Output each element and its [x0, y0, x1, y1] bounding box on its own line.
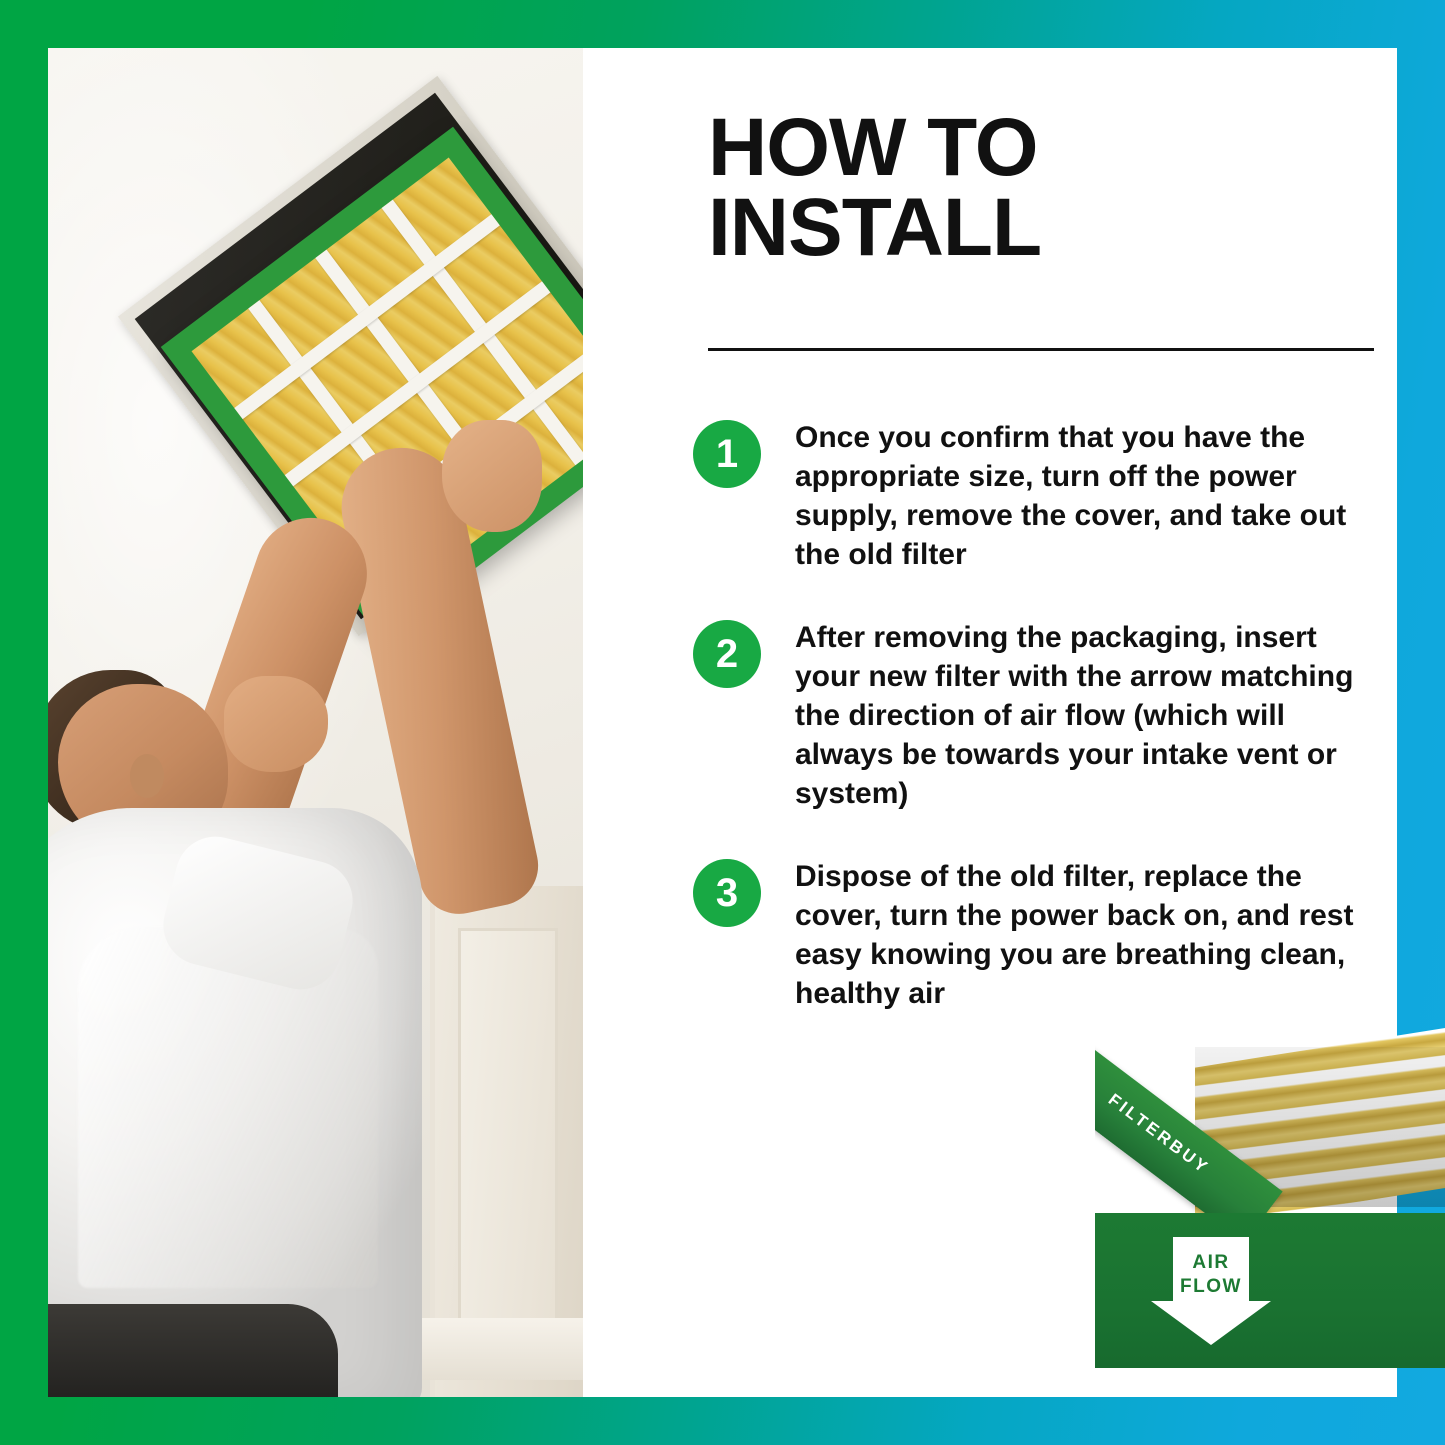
list-item: 1 Once you confirm that you have the app…	[693, 418, 1393, 574]
page-title-line-1: HOW TO	[708, 108, 1348, 188]
list-item: 3 Dispose of the old filter, replace the…	[693, 857, 1393, 1013]
photo-person-right-hand	[442, 420, 542, 532]
page-title: HOW TO INSTALL	[708, 108, 1348, 269]
photo-door-inset	[458, 928, 558, 1358]
photo-person-shirt-fold	[78, 928, 378, 1288]
step-text-1: Once you confirm that you have the appro…	[795, 418, 1375, 574]
product-filter-top: FILTERBUY	[1095, 1023, 1445, 1228]
steps-list: 1 Once you confirm that you have the app…	[693, 418, 1393, 1057]
air-flow-label: AIR FLOW	[1151, 1251, 1271, 1299]
photo-person-ear	[130, 754, 164, 798]
installation-photo: FILTERBUY FILTERBUY	[48, 48, 583, 1397]
photo-baseboard	[418, 1318, 583, 1380]
air-flow-arrow-head	[1151, 1301, 1271, 1345]
product-filter-front-panel: AIR FLOW	[1095, 1213, 1445, 1368]
step-number-badge-2: 2	[693, 620, 761, 688]
step-text-3: Dispose of the old filter, replace the c…	[795, 857, 1375, 1013]
air-flow-label-line-1: AIR	[1151, 1251, 1271, 1275]
promotional-graphic: FILTERBUY FILTERBUY	[0, 0, 1445, 1445]
photo-person-left-hand	[224, 676, 328, 772]
title-divider	[708, 348, 1374, 351]
photo-person-pants	[48, 1304, 338, 1397]
step-number-badge-1: 1	[693, 420, 761, 488]
step-number-badge-3: 3	[693, 859, 761, 927]
list-item: 2 After removing the packaging, insert y…	[693, 618, 1393, 813]
step-text-2: After removing the packaging, insert you…	[795, 618, 1375, 813]
air-flow-arrow-icon: AIR FLOW	[1151, 1237, 1271, 1345]
page-title-line-2: INSTALL	[708, 188, 1348, 268]
product-filter-image: FILTERBUY AIR FLOW	[1095, 1023, 1445, 1386]
air-flow-label-line-2: FLOW	[1151, 1275, 1271, 1299]
